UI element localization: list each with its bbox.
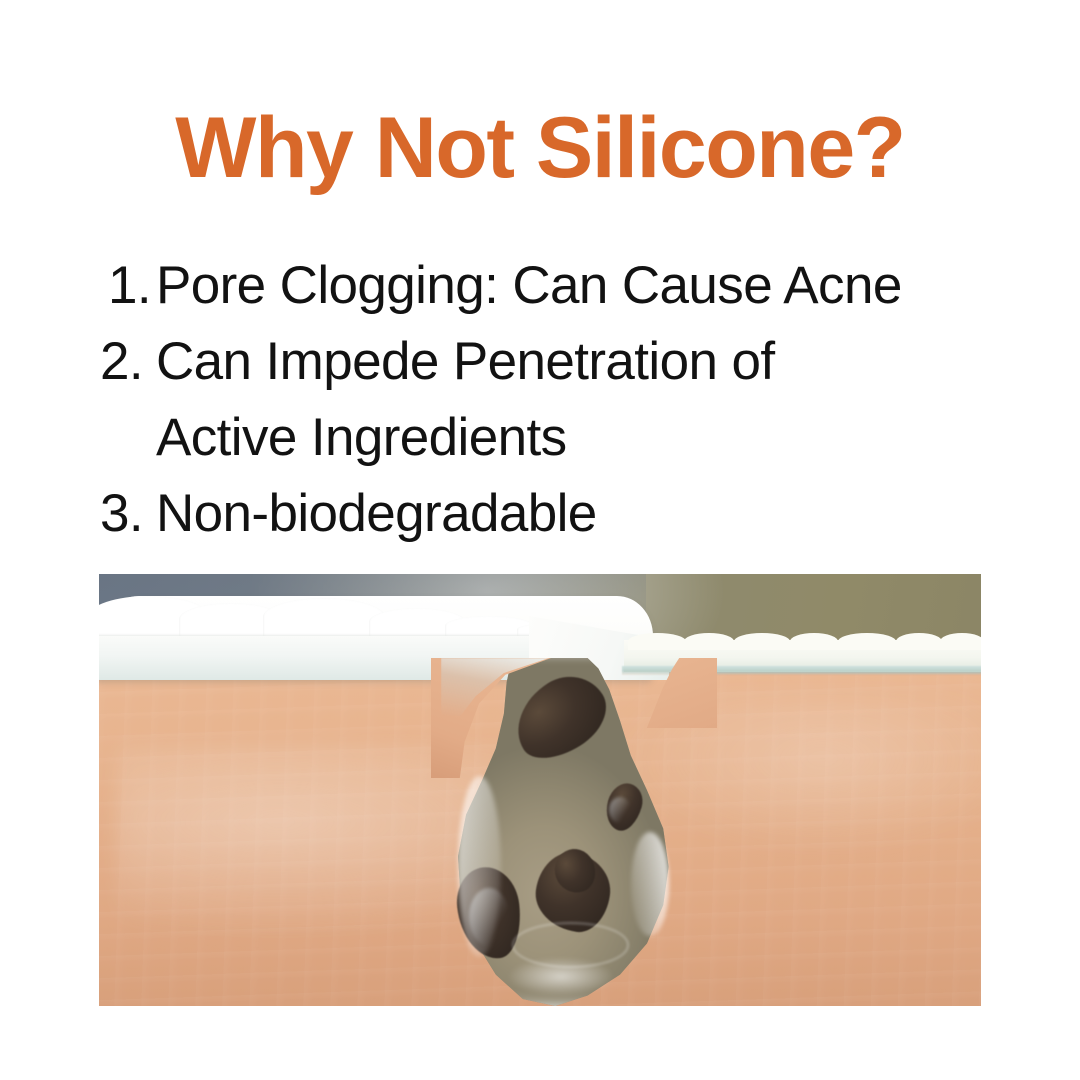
page-title: Why Not Silicone? — [0, 105, 1080, 191]
list-item-label: Can Impede Penetration of Active Ingredi… — [156, 324, 1020, 476]
clogged-pore — [431, 658, 701, 1006]
cream-layer-right-bumps — [624, 632, 981, 650]
pore-ripple — [512, 922, 629, 968]
slide-canvas: Why Not Silicone? 1. Pore Clogging: Can … — [0, 0, 1080, 1080]
list-item-label: Pore Clogging: Can Cause Acne — [156, 248, 1020, 324]
list-item-label: Non-biodegradable — [156, 476, 1020, 552]
list-item-number: 2. — [100, 324, 156, 400]
pore-gloss-right — [631, 832, 669, 936]
reason-list: 1. Pore Clogging: Can Cause Acne 2. Can … — [100, 248, 1020, 552]
clogged-pore-illustration — [99, 574, 981, 1006]
list-item-number: 3. — [100, 476, 156, 552]
list-item: 3. Non-biodegradable — [100, 476, 1020, 552]
list-item-number: 1. — [100, 248, 156, 324]
pore-gloss-left — [458, 776, 501, 957]
pore-lip-right — [627, 658, 717, 728]
list-item: 2. Can Impede Penetration of Active Ingr… — [100, 324, 1020, 476]
list-item: 1. Pore Clogging: Can Cause Acne — [100, 248, 1020, 324]
